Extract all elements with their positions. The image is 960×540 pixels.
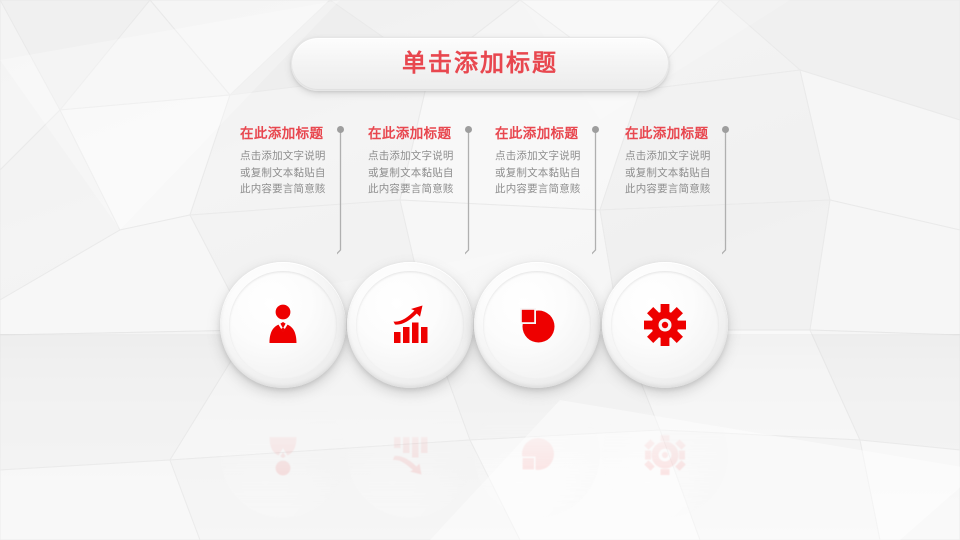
item-body-line: 点击添加文字说明 [495, 148, 601, 165]
reflection-circle-4 [602, 392, 728, 518]
item-body-line: 或复制文本黏贴自 [368, 165, 474, 182]
item-heading-1: 在此添加标题 [240, 126, 346, 142]
text-block-2[interactable]: 在此添加标题 点击添加文字说明 或复制文本黏贴自 此内容要言简意赅 [368, 126, 474, 198]
icon-circle-2[interactable] [347, 262, 473, 388]
icon-circle-inner-2 [356, 271, 464, 379]
icon-circle-3[interactable] [474, 262, 600, 388]
item-body-line: 点击添加文字说明 [625, 148, 731, 165]
item-body-line: 或复制文本黏贴自 [495, 165, 601, 182]
reflection-circle-2 [347, 392, 473, 518]
slide-canvas: 单击添加标题 在此添加标题 点击添加文字说明 或复制文本黏贴自 此内容要言简意赅 [0, 0, 960, 540]
businessman-icon-reflection [259, 431, 307, 479]
item-heading-4: 在此添加标题 [625, 126, 731, 142]
item-body-line: 点击添加文字说明 [240, 148, 346, 165]
bar-chart-growth-icon [386, 301, 434, 349]
item-body-1: 点击添加文字说明 或复制文本黏贴自 此内容要言简意赅 [240, 148, 346, 198]
icon-circle-inner-3 [483, 271, 591, 379]
item-heading-2: 在此添加标题 [368, 126, 474, 142]
item-body-line: 此内容要言简意赅 [240, 181, 346, 198]
item-body-line: 此内容要言简意赅 [495, 181, 601, 198]
icon-circle-1[interactable] [220, 262, 346, 388]
page-title: 单击添加标题 [402, 52, 558, 76]
item-body-4: 点击添加文字说明 或复制文本黏贴自 此内容要言简意赅 [625, 148, 731, 198]
item-body-line: 或复制文本黏贴自 [625, 165, 731, 182]
gear-icon-reflection [641, 431, 689, 479]
item-body-line: 此内容要言简意赅 [368, 181, 474, 198]
item-body-line: 点击添加文字说明 [368, 148, 474, 165]
item-body-3: 点击添加文字说明 或复制文本黏贴自 此内容要言简意赅 [495, 148, 601, 198]
bar-chart-growth-icon-reflection [386, 431, 434, 479]
gear-icon [641, 301, 689, 349]
reflection-circle-3 [474, 392, 600, 518]
text-block-1[interactable]: 在此添加标题 点击添加文字说明 或复制文本黏贴自 此内容要言简意赅 [240, 126, 346, 198]
item-body-line: 或复制文本黏贴自 [240, 165, 346, 182]
icon-circle-inner-1 [229, 271, 337, 379]
pie-chart-icon [513, 301, 561, 349]
text-block-4[interactable]: 在此添加标题 点击添加文字说明 或复制文本黏贴自 此内容要言简意赅 [625, 126, 731, 198]
icon-circle-inner-4 [611, 271, 719, 379]
pie-chart-icon-reflection [513, 431, 561, 479]
businessman-icon [259, 301, 307, 349]
icon-circle-4[interactable] [602, 262, 728, 388]
item-body-line: 此内容要言简意赅 [625, 181, 731, 198]
item-heading-3: 在此添加标题 [495, 126, 601, 142]
text-block-3[interactable]: 在此添加标题 点击添加文字说明 或复制文本黏贴自 此内容要言简意赅 [495, 126, 601, 198]
slide-title-container[interactable]: 单击添加标题 [291, 37, 669, 91]
reflection-circle-1 [220, 392, 346, 518]
item-body-2: 点击添加文字说明 或复制文本黏贴自 此内容要言简意赅 [368, 148, 474, 198]
